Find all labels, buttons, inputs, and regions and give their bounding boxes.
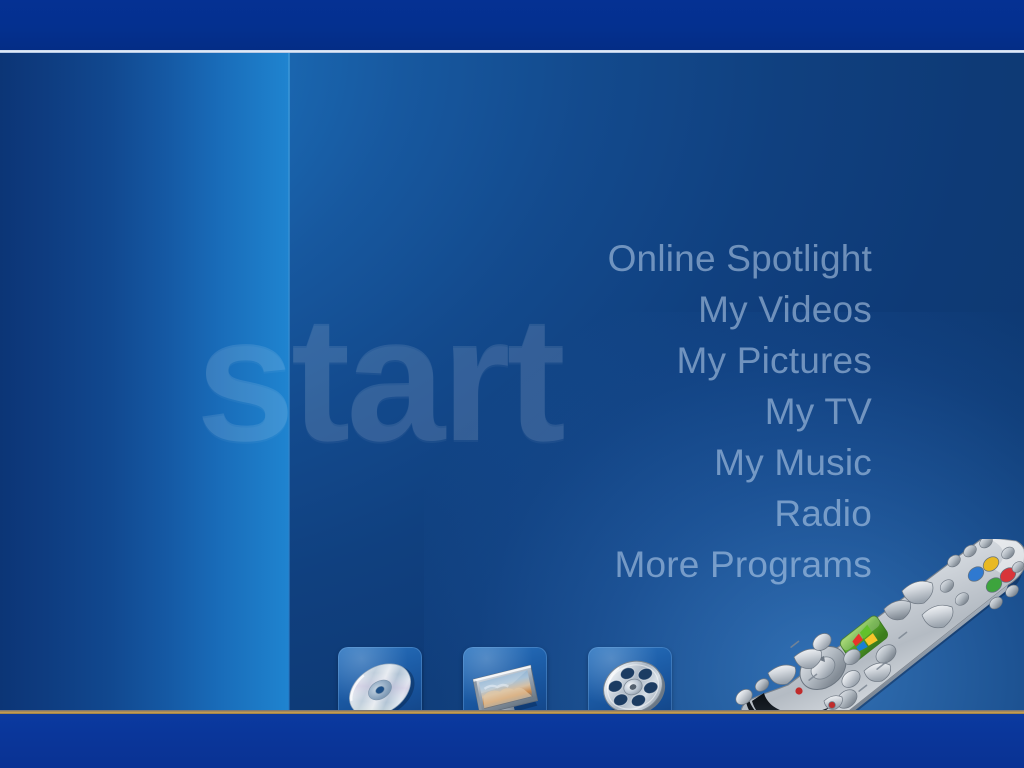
tile-cd-disc[interactable] (338, 647, 422, 712)
flat-tv-icon (463, 647, 547, 712)
media-center-start-screen: MediaCenter start Online Spotlight My Vi… (0, 0, 1024, 768)
bottom-bar (0, 714, 1024, 768)
menu-item-radio[interactable]: Radio (420, 488, 872, 539)
menu-item-my-music[interactable]: My Music (420, 437, 872, 488)
menu-item-my-pictures[interactable]: My Pictures (420, 335, 872, 386)
tile-flat-tv[interactable] (463, 647, 547, 712)
start-stage: start Online Spotlight My Videos My Pict… (0, 53, 1024, 712)
top-bar-separator (0, 50, 1024, 53)
tile-film-reel[interactable] (588, 647, 672, 712)
menu-item-my-videos[interactable]: My Videos (420, 284, 872, 335)
top-bar (0, 0, 1024, 50)
film-reel-icon (588, 647, 672, 712)
main-menu: Online Spotlight My Videos My Pictures M… (420, 233, 872, 590)
cd-disc-icon (338, 647, 422, 712)
menu-item-online-spotlight[interactable]: Online Spotlight (420, 233, 872, 284)
shortcut-tiles (338, 647, 672, 712)
menu-item-my-tv[interactable]: My TV (420, 386, 872, 437)
menu-item-more-programs[interactable]: More Programs (420, 539, 872, 590)
